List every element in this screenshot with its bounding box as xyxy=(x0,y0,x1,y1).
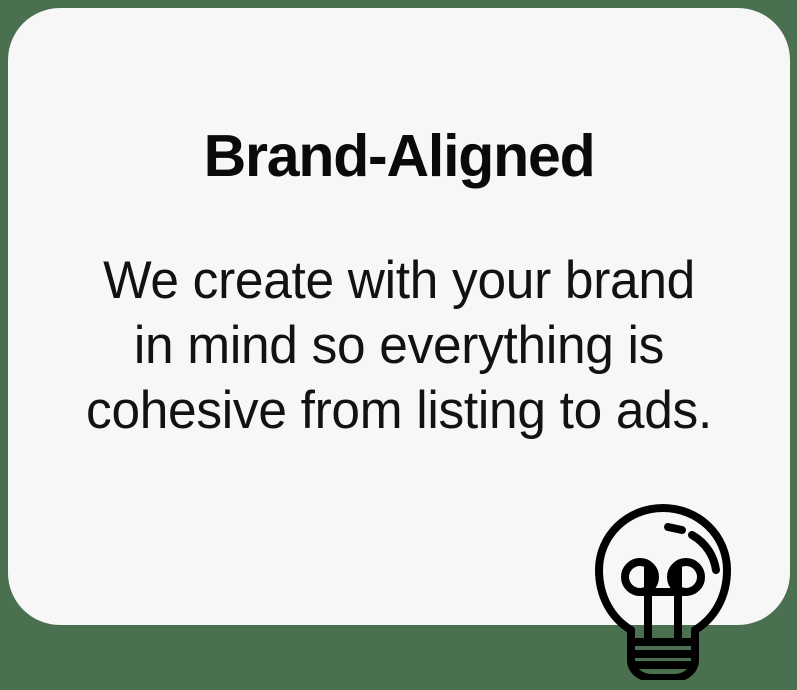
bulb-base-outline xyxy=(631,642,695,678)
card-body-line: cohesive from listing to ads. xyxy=(33,378,764,443)
page-background: Brand-Aligned We create with your brand … xyxy=(0,0,797,690)
card-title: Brand-Aligned xyxy=(8,120,790,192)
lightbulb-icon xyxy=(594,502,736,680)
bulb-glass-path xyxy=(599,508,727,642)
bulb-highlight-dash xyxy=(668,527,682,530)
card-body-text: We create with your brand in mind so eve… xyxy=(33,248,764,443)
card-body-line: in mind so everything is xyxy=(33,313,764,378)
card-body-line: We create with your brand xyxy=(33,248,764,313)
